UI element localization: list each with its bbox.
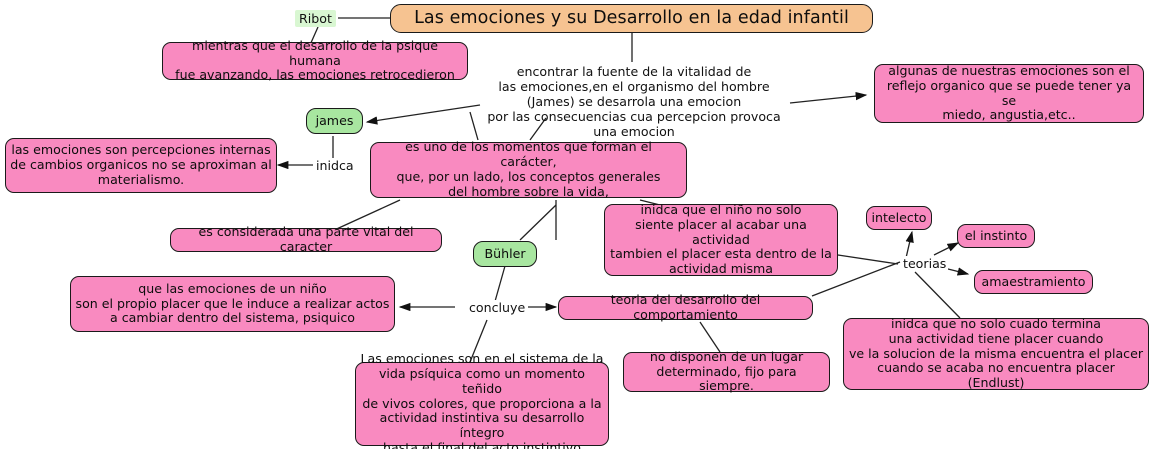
edge-teorias-childpleasure (838, 255, 898, 264)
node-child-pleasure[interactable]: inidca que el niño no solo siente placer… (604, 204, 838, 276)
link-label-teorias: teorias (901, 256, 948, 271)
node-center-description: encontrar la fuente de la vitalidad de l… (478, 64, 790, 140)
edge-teorias-intelecto (906, 232, 912, 258)
author-label-ribot[interactable]: Ribot (295, 10, 336, 27)
node-amaestramiento[interactable]: amaestramiento (974, 270, 1093, 294)
node-behavior-theory[interactable]: teoria del desarrollo del comportamiento (558, 296, 813, 320)
edge-teorias-instinto (934, 243, 958, 255)
author-node-buhler[interactable]: Bühler (473, 241, 537, 267)
edge-center-james (367, 105, 480, 122)
concept-map-canvas: Las emociones y su Desarrollo en la edad… (0, 0, 1154, 449)
link-label-inidca: inidca (314, 158, 356, 173)
edge-buhler-up (520, 205, 556, 240)
node-character-moment[interactable]: es uno de los momentos que forman el car… (370, 142, 687, 198)
node-child-emotions[interactable]: que las emociones de un niño son el prop… (70, 276, 395, 332)
edge-center-organic (790, 95, 866, 103)
node-internal-perceptions[interactable]: las emociones son percepciones internas … (5, 138, 277, 193)
node-no-fixed-place[interactable]: no disponen de un lugar determinado, fij… (623, 352, 830, 392)
node-el-instinto[interactable]: el instinto (957, 224, 1035, 248)
edge-charmoment-up2 (470, 112, 478, 140)
node-intelecto[interactable]: intelecto (866, 206, 932, 230)
author-node-james[interactable]: james (306, 108, 363, 134)
node-organic-reflex[interactable]: algunas de nuestras emociones son el ref… (874, 64, 1144, 123)
link-label-concluye: concluye (467, 300, 527, 315)
node-ribot-statement[interactable]: mientras que el desarrollo de la psique … (162, 42, 468, 80)
node-vital-part[interactable]: es considerada una parte vital del carac… (170, 228, 442, 252)
map-title[interactable]: Las emociones y su Desarrollo en la edad… (390, 4, 873, 33)
node-emotions-system[interactable]: Las emociones son en el sistema de la vi… (355, 362, 609, 446)
node-endlust[interactable]: inidca que no solo cuado termina una act… (843, 318, 1149, 390)
edge-theory-nofixed (700, 322, 720, 352)
edge-teorias-endlust (915, 272, 960, 318)
